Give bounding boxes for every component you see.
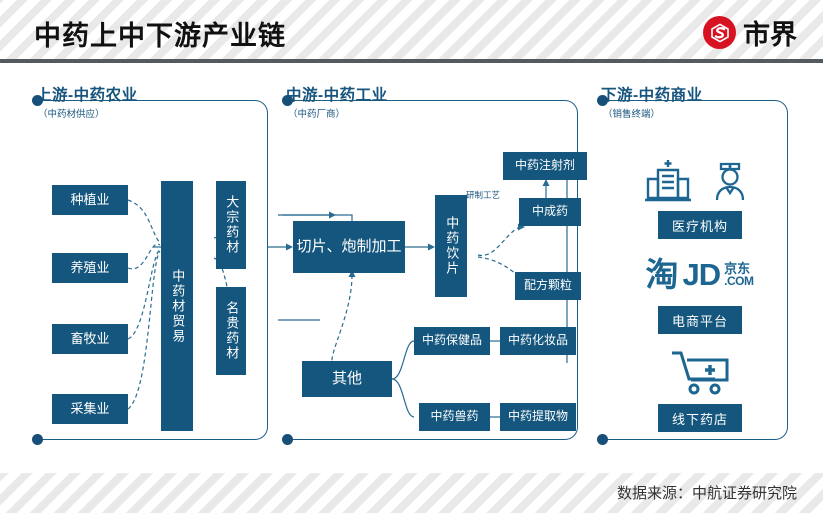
box-mid-product-0[interactable]: 中药注射剂 [503, 152, 587, 180]
page-footer: 数据来源：中航证券研究院 [0, 473, 823, 513]
pharmacy-icons-group [660, 346, 740, 398]
box-mid-other-item-0[interactable]: 中药保健品 [414, 327, 490, 355]
pharmacy-cart-icon [669, 347, 731, 397]
section-subtitle-midstream: （中药厂商） [288, 106, 345, 120]
box-upstream-output-1[interactable]: 名贵药材 [216, 287, 246, 375]
downstream-label-medical[interactable]: 医疗机构 [658, 211, 742, 239]
section-subtitle-downstream: （销售终端） [603, 106, 660, 120]
jd-logo: JD [683, 259, 721, 290]
section-title-downstream: 下游-中药商业 [601, 83, 703, 105]
box-upstream-source-2[interactable]: 畜牧业 [52, 324, 128, 354]
page-title: 中药上中下游产业链 [34, 14, 286, 53]
frame-dot-bottom [32, 434, 43, 445]
box-upstream-output-0[interactable]: 大宗药材 [216, 181, 246, 269]
box-mid-product-1[interactable]: 中成药 [519, 198, 581, 226]
box-mid-pieces[interactable]: 中药饮片 [435, 195, 467, 297]
doctor-icon [707, 157, 753, 203]
box-mid-other-item-1[interactable]: 中药化妆品 [500, 327, 576, 355]
page-header: 中药上中下游产业链 市界 [0, 0, 823, 63]
jd-cn-bottom: .COM [724, 275, 753, 287]
box-upstream-source-0[interactable]: 种植业 [52, 185, 128, 215]
ecommerce-logos: 淘 JD 京东 .COM [622, 253, 777, 295]
downstream-label-pharmacy[interactable]: 线下药店 [658, 404, 742, 432]
diagram-canvas: 上游-中药农业 （中药材供应） 中游-中药工业 （中药厂商） 下游-中药商业 （… [0, 63, 823, 473]
box-upstream-trade[interactable]: 中药材贸易 [161, 181, 193, 431]
frame-dot-bottom [597, 434, 608, 445]
taobao-logo: 淘 [646, 258, 679, 291]
infographic-page: 中药上中下游产业链 市界 上游-中药农业 （中药材供应） [0, 0, 823, 513]
section-subtitle-upstream: （中药材供应） [38, 106, 105, 120]
section-title-midstream: 中游-中药工业 [286, 83, 388, 105]
hospital-icon [643, 157, 693, 203]
edge-label-process: 研制工艺 [466, 189, 500, 201]
box-upstream-source-3[interactable]: 采集业 [52, 394, 128, 424]
jd-cn-top: 京东 [724, 262, 753, 275]
box-mid-other-item-2[interactable]: 中药兽药 [419, 403, 490, 431]
downstream-label-ecommerce[interactable]: 电商平台 [658, 306, 742, 334]
brand-name: 市界 [743, 13, 797, 52]
box-mid-other[interactable]: 其他 [302, 361, 392, 397]
data-source-note: 数据来源：中航证券研究院 [617, 482, 797, 503]
brand-logo: 市界 [703, 13, 797, 52]
jd-cn-logo: 京东 .COM [724, 262, 753, 287]
box-mid-processing[interactable]: 切片、炮制加工 [293, 221, 405, 273]
box-upstream-source-1[interactable]: 养殖业 [52, 253, 128, 283]
frame-dot-bottom [282, 434, 293, 445]
box-mid-other-item-3[interactable]: 中药提取物 [500, 403, 576, 431]
box-mid-product-2[interactable]: 配方颗粒 [515, 272, 581, 300]
brand-mark-icon [703, 16, 736, 49]
medical-icons-group [633, 156, 763, 204]
section-title-upstream: 上游-中药农业 [36, 83, 138, 105]
